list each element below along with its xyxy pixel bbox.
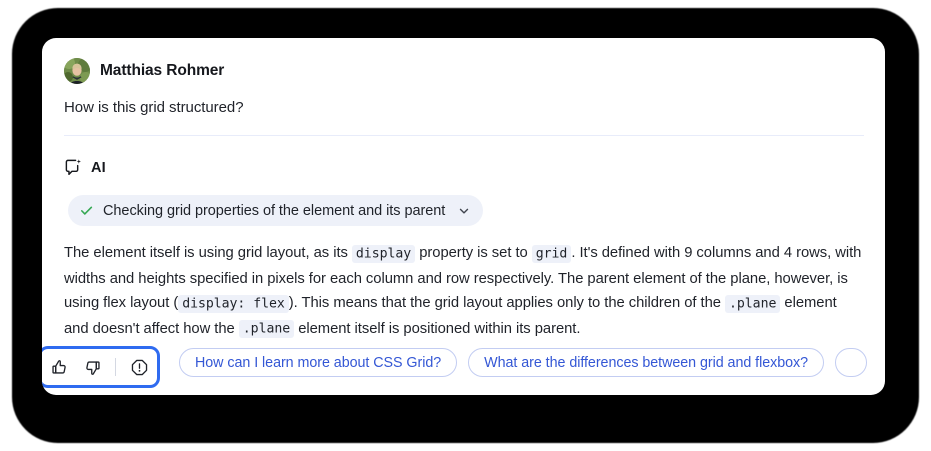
status-pill-toggle[interactable]: Checking grid properties of the element … (68, 195, 483, 226)
answer-actions-bar: How can I learn more about CSS Grid? Wha… (42, 338, 885, 395)
suggestion-chips: How can I learn more about CSS Grid? Wha… (179, 348, 867, 377)
divider (64, 135, 864, 136)
chevron-down-icon[interactable] (457, 204, 471, 218)
inline-code: .plane (239, 320, 294, 338)
avatar (64, 58, 90, 84)
ai-sparkle-icon (64, 158, 83, 177)
check-icon (79, 203, 94, 218)
suggestion-chip[interactable]: What are the differences between grid an… (468, 348, 824, 377)
ai-label: AI (91, 160, 106, 176)
toolbar-divider (115, 358, 116, 376)
report-octagon-icon[interactable] (127, 355, 151, 379)
ai-answer-text: The element itself is using grid layout,… (64, 241, 864, 342)
user-question: How is this grid structured? (64, 99, 244, 116)
thumbs-up-icon[interactable] (47, 355, 71, 379)
inline-code: grid (532, 245, 572, 263)
inline-code: display: flex (178, 295, 289, 313)
suggestion-chip[interactable] (835, 348, 867, 377)
suggestion-chip[interactable]: How can I learn more about CSS Grid? (179, 348, 457, 377)
inline-code: display (352, 245, 415, 263)
user-name: Matthias Rohmer (100, 62, 224, 80)
thumbs-down-icon[interactable] (80, 355, 104, 379)
user-header: Matthias Rohmer (64, 58, 224, 84)
ai-header: AI (64, 158, 106, 177)
inline-code: .plane (725, 295, 780, 313)
feedback-toolbar[interactable] (42, 346, 160, 388)
chat-card: Matthias Rohmer How is this grid structu… (42, 38, 885, 395)
status-text: Checking grid properties of the element … (103, 203, 445, 219)
